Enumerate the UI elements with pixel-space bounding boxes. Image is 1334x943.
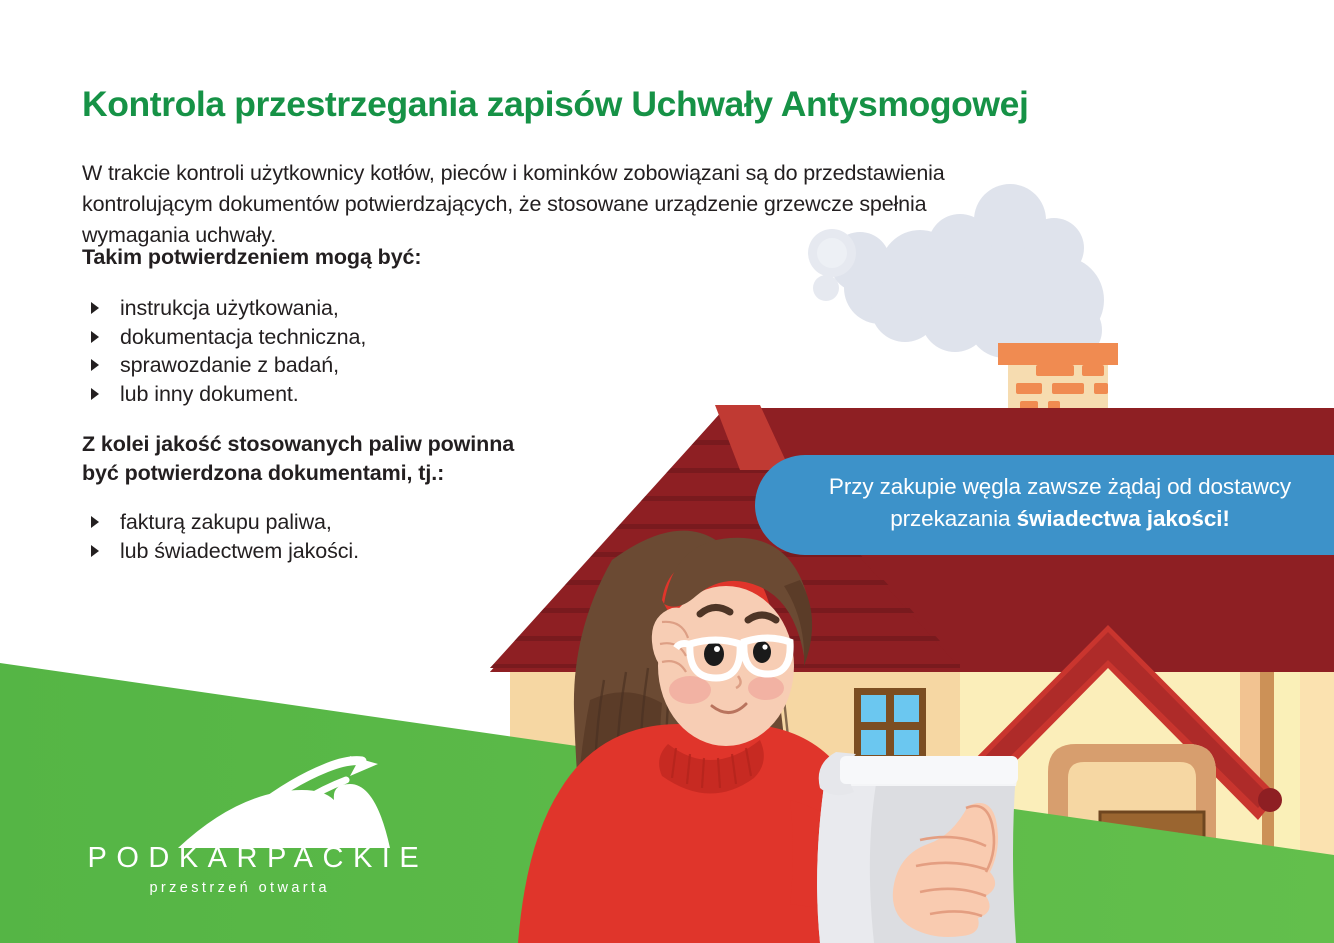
callout-line-2-normal: przekazania xyxy=(890,506,1016,531)
triangle-bullet-icon xyxy=(91,388,99,400)
logo-tagline: przestrzeń otwarta xyxy=(78,880,398,896)
list-item-label: sprawozdanie z badań, xyxy=(120,353,339,377)
list-item: dokumentacja techniczna, xyxy=(82,323,366,352)
triangle-bullet-icon xyxy=(91,545,99,557)
callout-banner: Przy zakupie węgla zawsze żądaj od dosta… xyxy=(755,455,1334,555)
intro-paragraph: W trakcie kontroli użytkownicy kotłów, p… xyxy=(82,158,962,251)
triangle-bullet-icon xyxy=(91,302,99,314)
list-item: instrukcja użytkowania, xyxy=(82,294,366,323)
text-layer: Kontrola przestrzegania zapisów Uchwały … xyxy=(0,0,1334,943)
callout-line-1: Przy zakupie węgla zawsze żądaj od dosta… xyxy=(829,474,1291,499)
subheading-line-1: Z kolei jakość stosowanych paliw powinna xyxy=(82,432,514,456)
list-item: fakturą zakupu paliwa, xyxy=(82,508,359,537)
subheading-line-2: być potwierdzona dokumentami, tj.: xyxy=(82,461,444,485)
list-item: sprawozdanie z badań, xyxy=(82,351,366,380)
logo-wordmark: PODKARPACKIE xyxy=(78,842,398,875)
list-item-label: dokumentacja techniczna, xyxy=(120,325,366,349)
subheading-confirmation: Takim potwierdzeniem mogą być: xyxy=(82,243,421,272)
list-item-label: lub świadectwem jakości. xyxy=(120,539,359,563)
list-item: lub świadectwem jakości. xyxy=(82,537,359,566)
podkarpackie-logo: PODKARPACKIE przestrzeń otwarta xyxy=(78,776,398,904)
list-item-label: lub inny dokument. xyxy=(120,382,299,406)
subheading-fuel-quality: Z kolei jakość stosowanych paliw powinna… xyxy=(82,430,552,488)
triangle-bullet-icon xyxy=(91,516,99,528)
list-item-label: instrukcja użytkowania, xyxy=(120,296,339,320)
page-title: Kontrola przestrzegania zapisów Uchwały … xyxy=(82,84,1182,125)
poster-canvas: Kontrola przestrzegania zapisów Uchwały … xyxy=(0,0,1334,943)
document-list: instrukcja użytkowania, dokumentacja tec… xyxy=(82,294,366,408)
fuel-document-list: fakturą zakupu paliwa, lub świadectwem j… xyxy=(82,508,359,565)
list-item: lub inny dokument. xyxy=(82,380,366,409)
triangle-bullet-icon xyxy=(91,359,99,371)
triangle-bullet-icon xyxy=(91,331,99,343)
list-item-label: fakturą zakupu paliwa, xyxy=(120,510,332,534)
callout-line-2-bold: świadectwa jakości! xyxy=(1017,506,1230,531)
